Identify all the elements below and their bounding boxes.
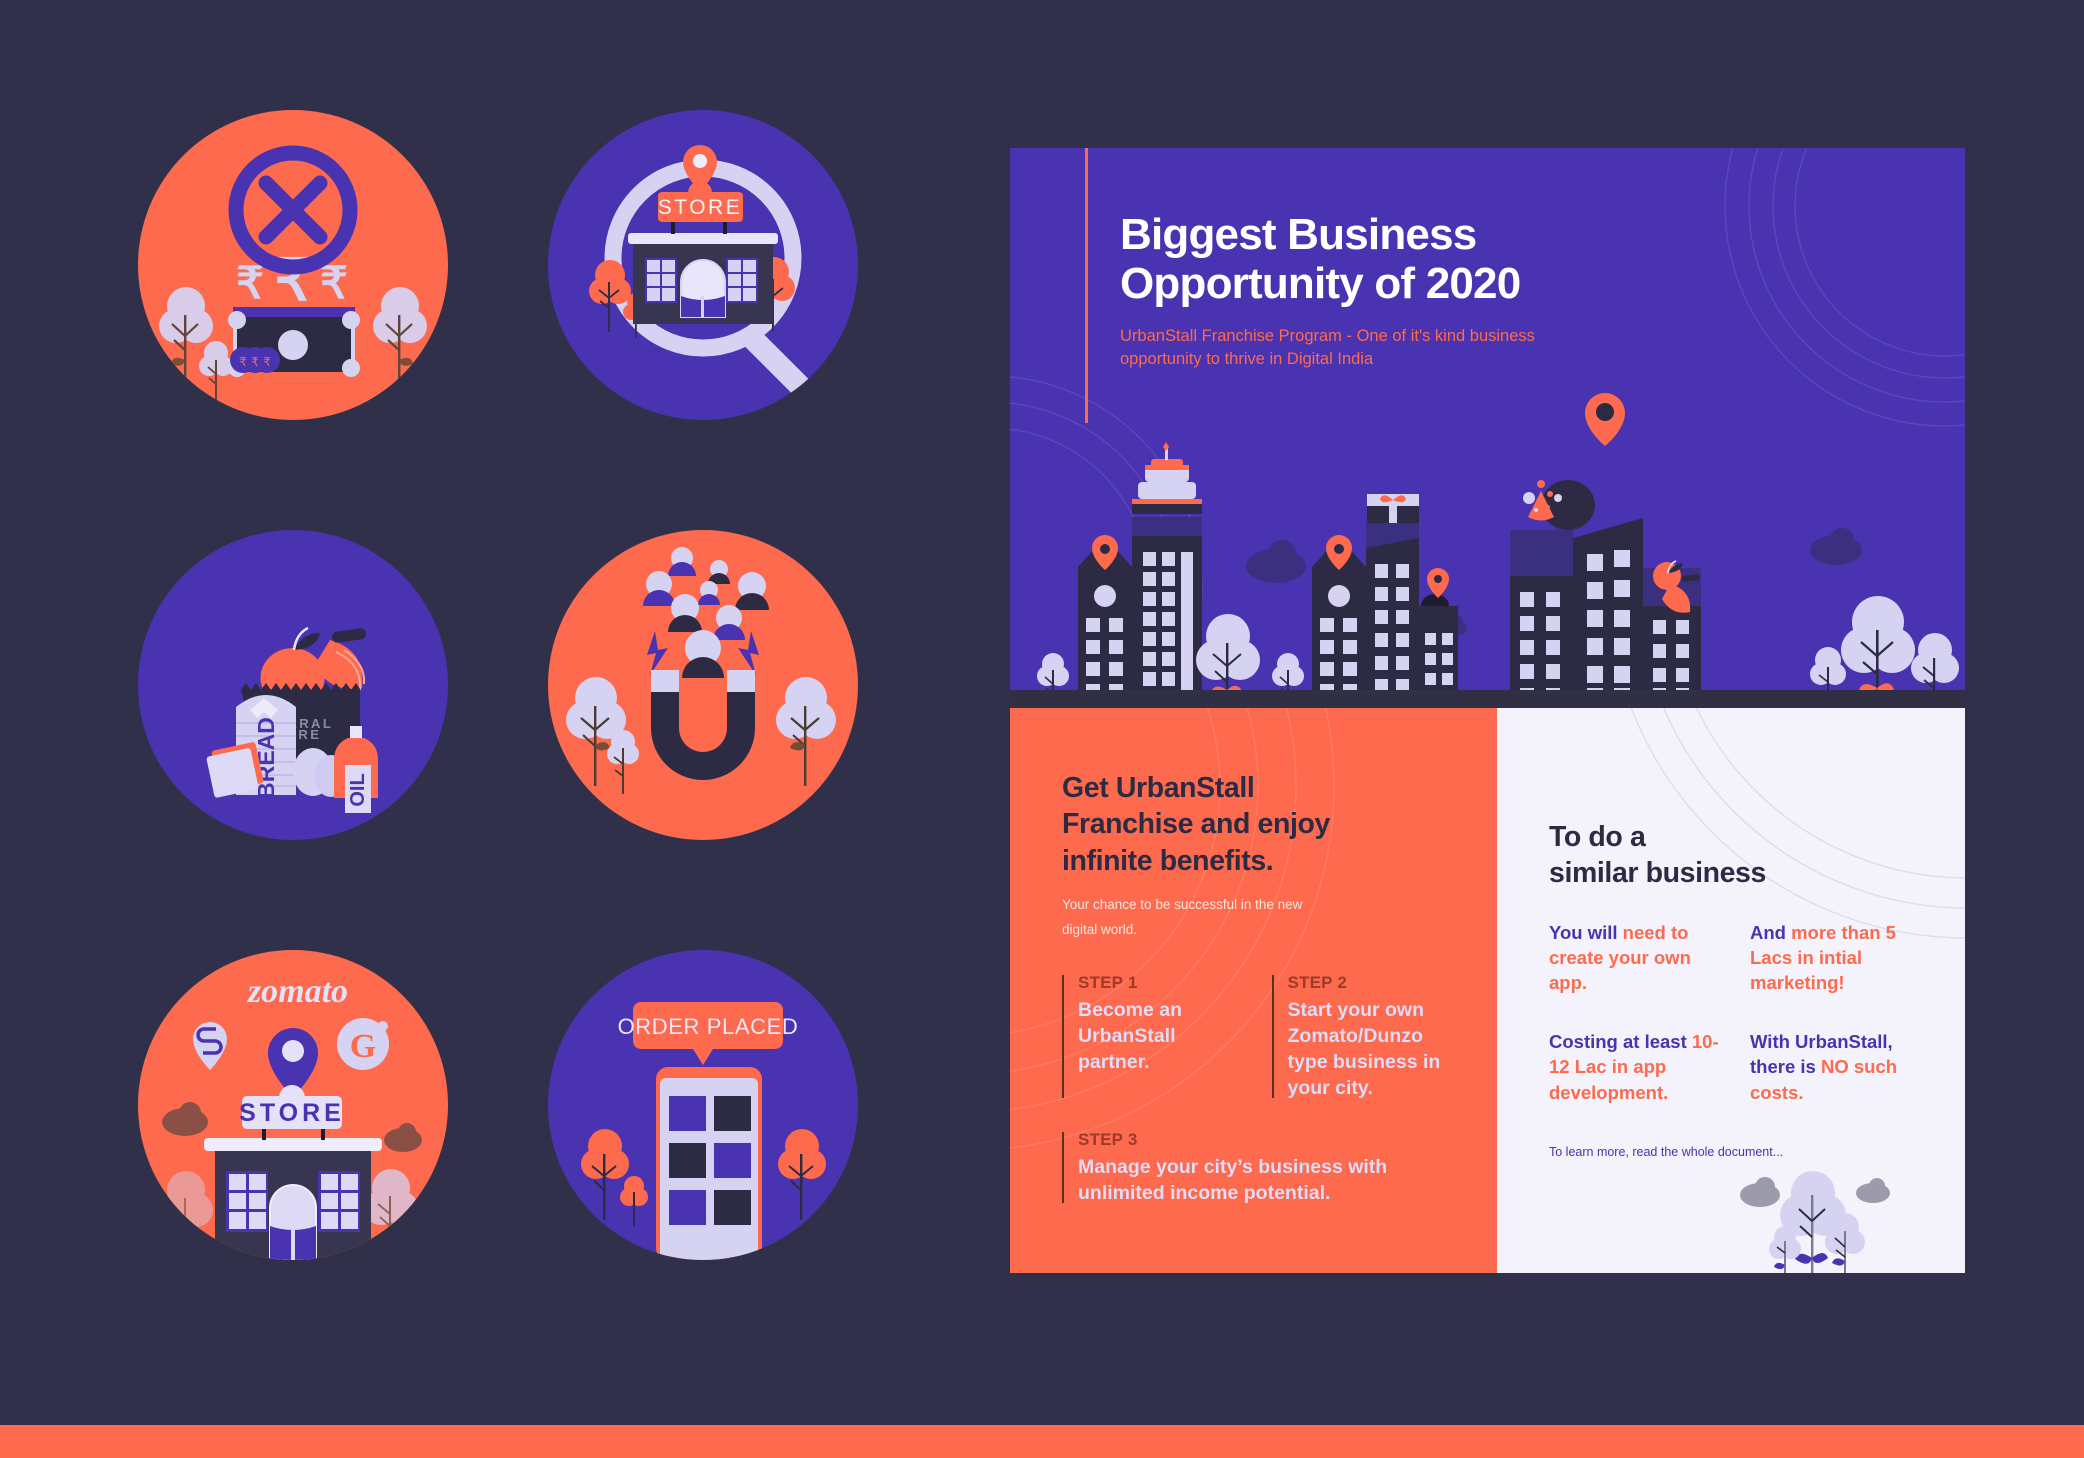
find-store-search-icon: STORE	[548, 110, 858, 420]
hero-banner: Biggest Business Opportunity of 2020 Urb…	[1010, 148, 1965, 708]
step-key: STEP 2	[1288, 973, 1460, 993]
svg-text:₹: ₹	[236, 259, 264, 308]
icon-tile-grocery-bag[interactable]: GENERAL STORE BREAD	[138, 530, 448, 840]
step-key: STEP 1	[1078, 973, 1250, 993]
compare-points-grid: You will need to create your own app. An…	[1549, 920, 1925, 1105]
svg-text:₹: ₹	[251, 355, 259, 369]
compare-point: You will need to create your own app.	[1549, 920, 1724, 995]
step-item: STEP 3 Manage your city’s business with …	[1062, 1130, 1459, 1207]
customer-magnet-icon	[548, 530, 858, 840]
step-item: STEP 2 Start your own Zomato/Dunzo type …	[1272, 973, 1460, 1102]
offer-subtitle-line1: Your chance to be successful in the new	[1062, 893, 1362, 918]
step-text: Become an UrbanStall partner.	[1078, 998, 1250, 1076]
hero-copy: Biggest Business Opportunity of 2020 Urb…	[1120, 210, 1760, 372]
compare-panel-content: To do a similar business You will need t…	[1549, 820, 1925, 1159]
order-placed-building-icon: ORDER PLACED	[548, 950, 858, 1260]
offer-title-line3: infinite benefits.	[1062, 843, 1459, 879]
poster-canvas: ₹ ₹ ₹ ₹	[0, 0, 2084, 1458]
step-text: Manage your city’s business with unlimit…	[1078, 1155, 1459, 1207]
hero-title: Biggest Business Opportunity of 2020	[1120, 210, 1760, 309]
oil-bottle-label: OIL	[347, 773, 369, 806]
compare-panel: To do a similar business You will need t…	[1497, 708, 1965, 1273]
offer-panel-content: Get UrbanStall Franchise and enjoy infin…	[1062, 770, 1459, 1207]
svg-text:₹: ₹	[239, 355, 247, 369]
svg-text:₹: ₹	[263, 355, 271, 369]
compare-point-lead: You will	[1549, 922, 1618, 943]
compare-panel-tree-illustration	[1725, 1153, 1925, 1273]
icon-tile-find-store-search[interactable]: STORE	[548, 110, 858, 420]
compare-point: And more than 5 Lacs in intial marketing…	[1750, 920, 1925, 995]
step-item: STEP 1 Become an UrbanStall partner.	[1062, 973, 1250, 1102]
hero-accent-rule	[1085, 148, 1088, 423]
order-placed-tooltip-label: ORDER PLACED	[618, 1014, 799, 1039]
no-cash-payment-icon: ₹ ₹ ₹ ₹	[138, 110, 448, 420]
bottom-accent-strip	[0, 1425, 2084, 1458]
hero-subtitle-line1: UrbanStall Franchise Program - One of it…	[1120, 325, 1760, 349]
steps-list: STEP 1 Become an UrbanStall partner. STE…	[1062, 973, 1459, 1207]
hero-cityscape-illustration	[1010, 388, 1965, 708]
svg-text:₹: ₹	[275, 248, 312, 313]
hero-subtitle-line2: opportunity to thrive in Digital India	[1120, 348, 1760, 372]
offer-panel: Get UrbanStall Franchise and enjoy infin…	[1010, 708, 1497, 1273]
grocery-bag-icon: GENERAL STORE BREAD	[138, 530, 448, 840]
zomato-store-listing-icon: zomato G	[138, 950, 448, 1260]
offer-title-line1: Get UrbanStall	[1062, 770, 1459, 806]
grofers-g-label: G	[350, 1028, 376, 1065]
offer-panel-subtitle: Your chance to be successful in the new …	[1062, 893, 1362, 943]
zomato-brand-label: zomato	[247, 973, 348, 1010]
icon-showcase-grid: ₹ ₹ ₹ ₹	[138, 110, 858, 1280]
compare-point-lead: And	[1750, 922, 1786, 943]
hero-title-line2: Opportunity of 2020	[1120, 259, 1760, 308]
offer-title-line2: Franchise and enjoy	[1062, 806, 1459, 842]
compare-point: With UrbanStall, there is NO such costs.	[1750, 1029, 1925, 1104]
lower-panels: Get UrbanStall Franchise and enjoy infin…	[1010, 708, 1965, 1273]
hero-title-line1: Biggest Business	[1120, 210, 1760, 259]
compare-title-line2: similar business	[1549, 856, 1925, 892]
step-key: STEP 3	[1078, 1130, 1459, 1150]
hero-subtitle: UrbanStall Franchise Program - One of it…	[1120, 325, 1760, 373]
step-text: Start your own Zomato/Dunzo type busines…	[1288, 998, 1460, 1102]
compare-point: Costing at least 10-12 Lac in app develo…	[1549, 1029, 1724, 1104]
icon-tile-customer-magnet[interactable]	[548, 530, 858, 840]
compare-panel-title: To do a similar business	[1549, 820, 1925, 892]
icon-tile-order-placed-building[interactable]: ORDER PLACED	[548, 950, 858, 1260]
icon-tile-no-cash-payment[interactable]: ₹ ₹ ₹ ₹	[138, 110, 448, 420]
offer-subtitle-line2: digital world.	[1062, 918, 1362, 943]
store-signboard-label: STORE	[239, 1099, 345, 1127]
hero-ground-strip	[1010, 690, 1965, 708]
offer-panel-title: Get UrbanStall Franchise and enjoy infin…	[1062, 770, 1459, 879]
icon-tile-zomato-store-listing[interactable]: zomato G	[138, 950, 448, 1260]
store-signboard-label: STORE	[658, 196, 742, 219]
compare-title-line1: To do a	[1549, 820, 1925, 856]
compare-point-lead: Costing at least	[1549, 1031, 1687, 1052]
brochure-composition: Biggest Business Opportunity of 2020 Urb…	[1010, 148, 1965, 1273]
